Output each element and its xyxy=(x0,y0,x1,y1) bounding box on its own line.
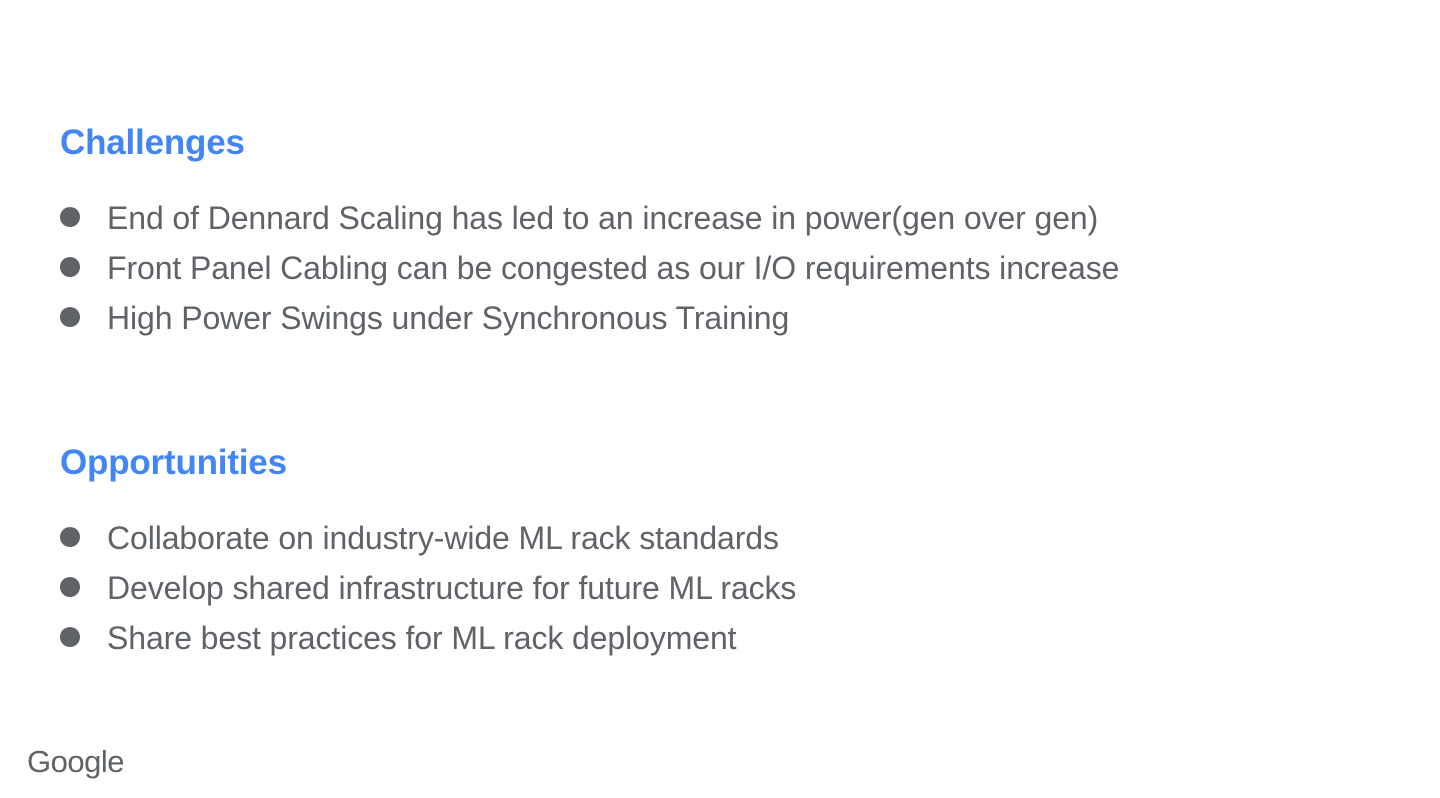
list-item: End of Dennard Scaling has led to an inc… xyxy=(60,196,1119,246)
bullet-text: End of Dennard Scaling has led to an inc… xyxy=(107,196,1098,240)
bullet-dot-icon xyxy=(60,627,80,647)
bullet-text: High Power Swings under Synchronous Trai… xyxy=(107,296,789,340)
bullet-text: Front Panel Cabling can be congested as … xyxy=(107,246,1119,290)
list-item: Share best practices for ML rack deploym… xyxy=(60,616,796,666)
bullet-dot-icon xyxy=(60,207,80,227)
google-logo: Google xyxy=(27,742,147,782)
list-item: High Power Swings under Synchronous Trai… xyxy=(60,296,1119,346)
bullet-text: Share best practices for ML rack deploym… xyxy=(107,616,736,660)
bullet-list-challenges: End of Dennard Scaling has led to an inc… xyxy=(60,196,1119,346)
slide-canvas: Challenges End of Dennard Scaling has le… xyxy=(0,0,1440,798)
section-heading-opportunities: Opportunities xyxy=(60,444,287,483)
list-item: Develop shared infrastructure for future… xyxy=(60,566,796,616)
bullet-dot-icon xyxy=(60,257,80,277)
google-logo-text: Google xyxy=(27,744,124,779)
bullet-text: Develop shared infrastructure for future… xyxy=(107,566,796,610)
section-heading-challenges: Challenges xyxy=(60,124,245,163)
bullet-dot-icon xyxy=(60,307,80,327)
bullet-list-opportunities: Collaborate on industry-wide ML rack sta… xyxy=(60,516,796,666)
bullet-text: Collaborate on industry-wide ML rack sta… xyxy=(107,516,779,560)
list-item: Collaborate on industry-wide ML rack sta… xyxy=(60,516,796,566)
list-item: Front Panel Cabling can be congested as … xyxy=(60,246,1119,296)
bullet-dot-icon xyxy=(60,527,80,547)
bullet-dot-icon xyxy=(60,577,80,597)
